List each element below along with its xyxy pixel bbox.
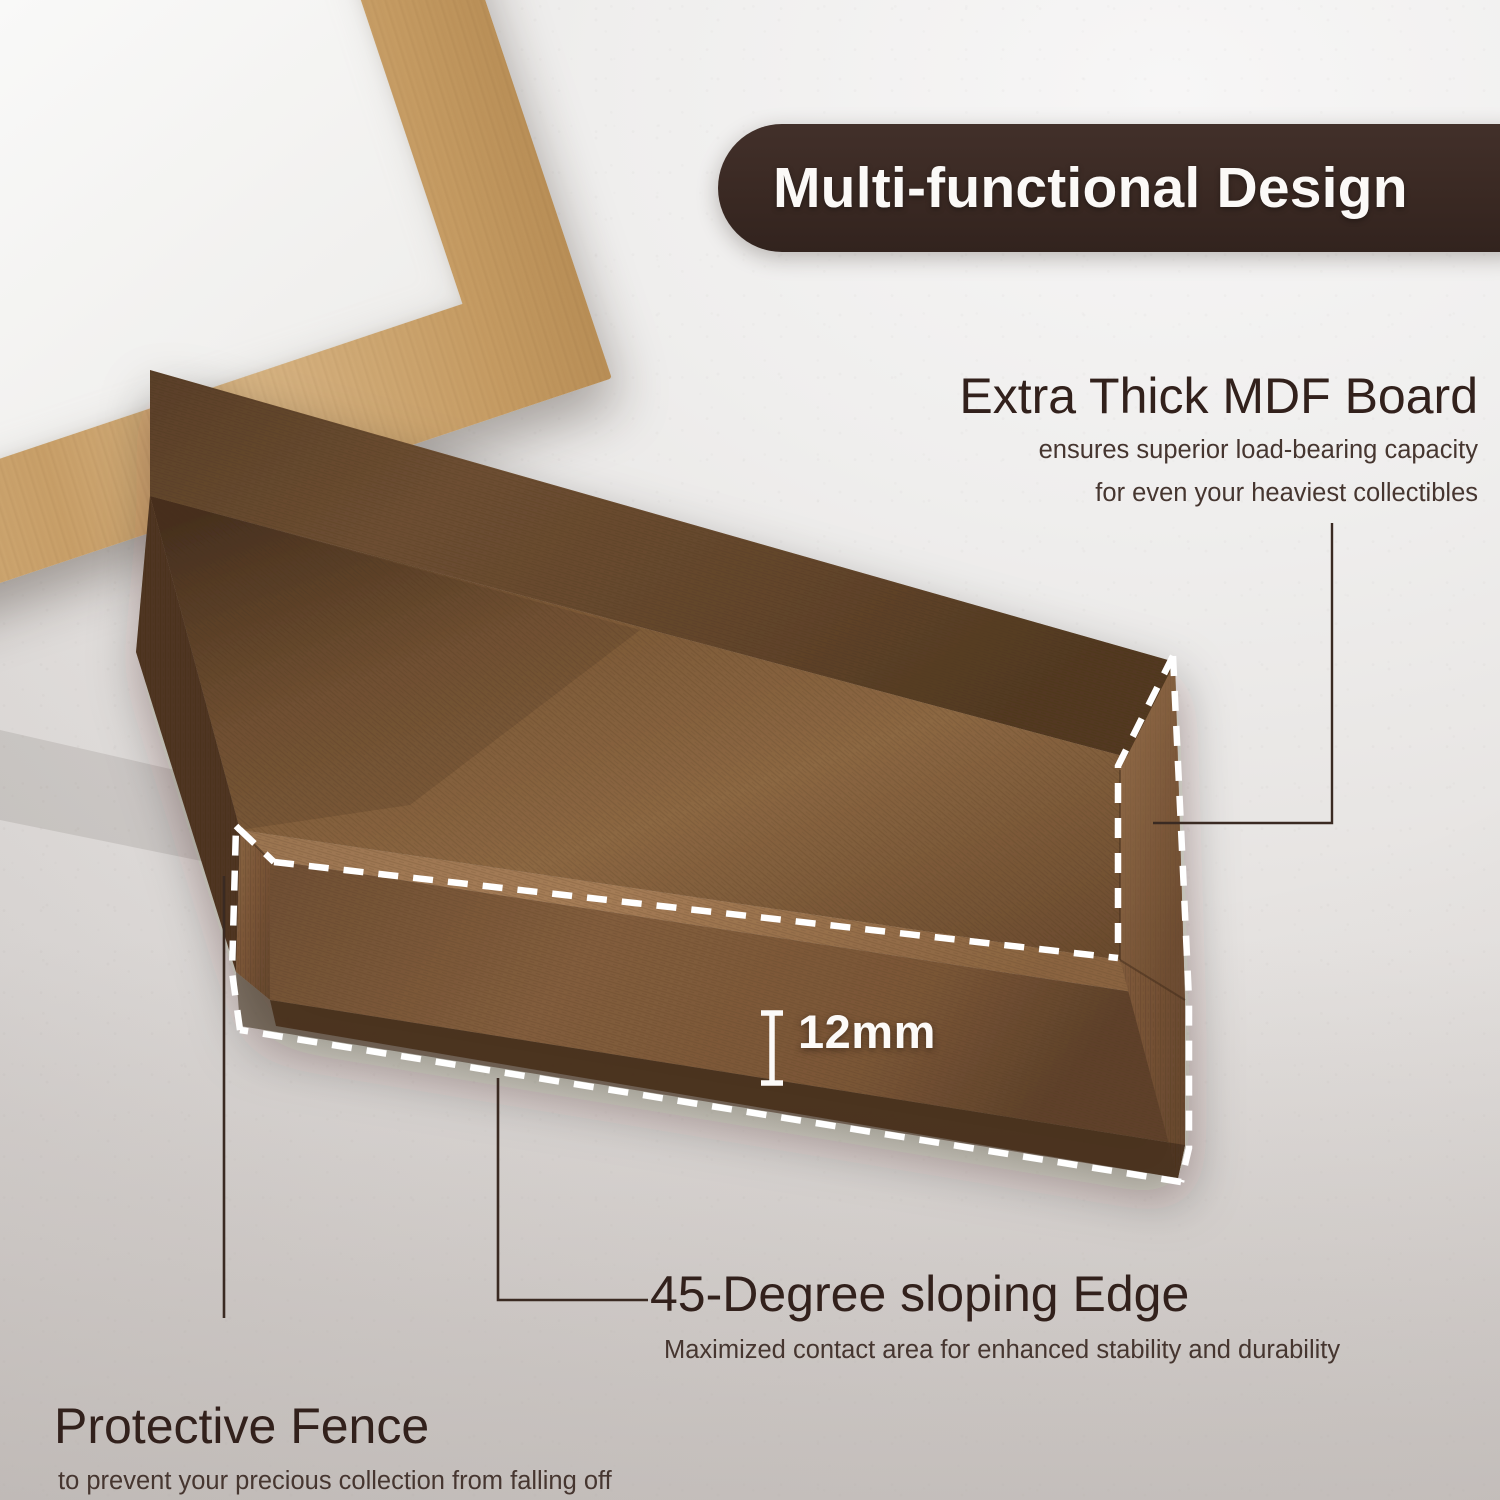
callout-mdf-subtitle-line2: for even your heaviest collectibles <box>959 477 1478 509</box>
callout-sloping-edge: 45-Degree sloping Edge Maximized contact… <box>650 1268 1340 1366</box>
callout-sloping-edge-subtitle: Maximized contact area for enhanced stab… <box>664 1334 1340 1366</box>
leader-line-mdf <box>1153 523 1332 823</box>
dimension-12mm: 12mm <box>746 1000 986 1100</box>
callout-mdf-board: Extra Thick MDF Board ensures superior l… <box>959 370 1478 509</box>
title-banner: Multi-functional Design <box>718 124 1500 252</box>
callout-sloping-edge-title: 45-Degree sloping Edge <box>650 1268 1340 1321</box>
callout-protective-fence-title: Protective Fence <box>54 1400 612 1453</box>
leader-line-sloping-edge <box>498 1078 648 1300</box>
callout-protective-fence-subtitle: to prevent your precious collection from… <box>58 1465 612 1497</box>
infographic-canvas: 12mm Multi-functional Design Extra Thick… <box>0 0 1500 1500</box>
banner-title: Multi-functional Design <box>773 155 1408 221</box>
callout-mdf-title: Extra Thick MDF Board <box>959 370 1478 423</box>
dimension-value-label: 12mm <box>798 1004 936 1059</box>
callout-protective-fence: Protective Fence to prevent your preciou… <box>54 1400 612 1497</box>
callout-mdf-subtitle-line1: ensures superior load-bearing capacity <box>959 434 1478 466</box>
